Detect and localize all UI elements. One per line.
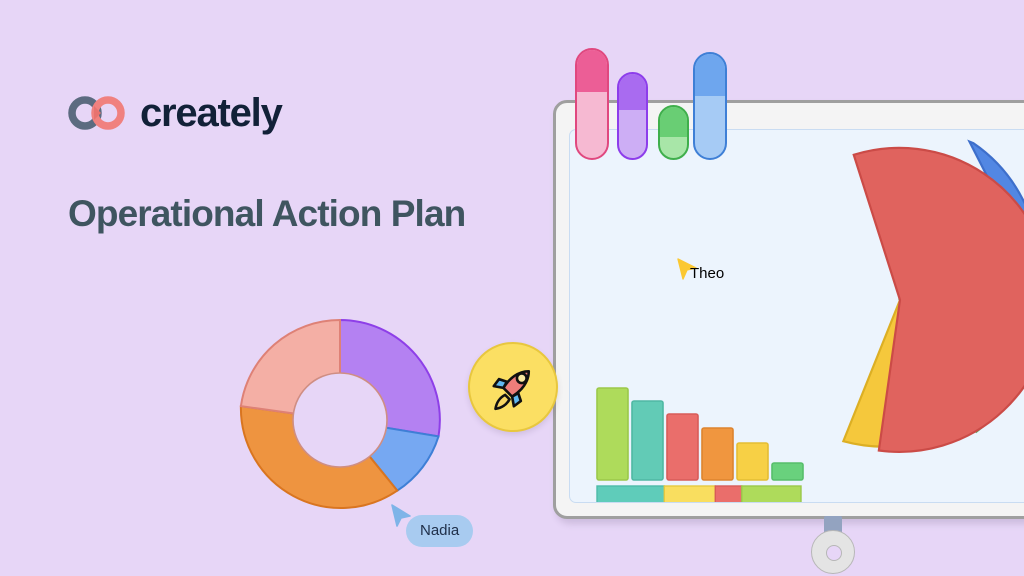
pill-bar-pink[interactable]	[575, 48, 609, 160]
bar-2[interactable]	[632, 401, 663, 480]
brand-name: creately	[140, 93, 282, 133]
donut-hole	[293, 373, 387, 467]
pie-slice-red[interactable]	[813, 140, 1024, 471]
page-title: Operational Action Plan	[68, 193, 465, 234]
stack-seg-yellow[interactable]	[664, 486, 715, 503]
cursor-label-nadia: Nadia	[406, 515, 473, 547]
brand-logo[interactable]: creately	[68, 93, 282, 133]
bar-3[interactable]	[667, 414, 698, 480]
infinity-rings-logo-icon	[68, 95, 126, 131]
rocket-badge[interactable]	[468, 342, 558, 432]
stacked-progress-bar[interactable]	[597, 486, 801, 503]
bar-4[interactable]	[702, 428, 733, 480]
whiteboard-canvas[interactable]: Theo	[569, 129, 1024, 503]
pill-cap-blue	[695, 54, 725, 96]
pill-cap-pink	[577, 50, 607, 92]
pill-cap-green	[660, 107, 687, 137]
pill-cap-purple	[619, 74, 646, 110]
column-chart[interactable]	[595, 380, 825, 503]
bar-6[interactable]	[772, 463, 803, 480]
donut-chart[interactable]	[228, 308, 452, 532]
whiteboard-stand-base	[811, 530, 855, 574]
pill-bar-green[interactable]	[658, 105, 689, 160]
bar-1[interactable]	[597, 388, 628, 480]
cursor-label-theo: Theo	[676, 258, 738, 290]
bar-5[interactable]	[737, 443, 768, 480]
stack-seg-teal[interactable]	[597, 486, 664, 503]
stack-seg-green[interactable]	[742, 486, 801, 503]
rocket-icon	[485, 359, 541, 415]
whiteboard-frame[interactable]: Theo	[553, 100, 1024, 519]
column-bars[interactable]	[597, 388, 803, 480]
pill-bar-purple[interactable]	[617, 72, 648, 160]
pill-bar-blue[interactable]	[693, 52, 727, 160]
stack-seg-red[interactable]	[715, 486, 742, 503]
slide-canvas: Theo creately Operational Action Plan	[0, 0, 1024, 576]
